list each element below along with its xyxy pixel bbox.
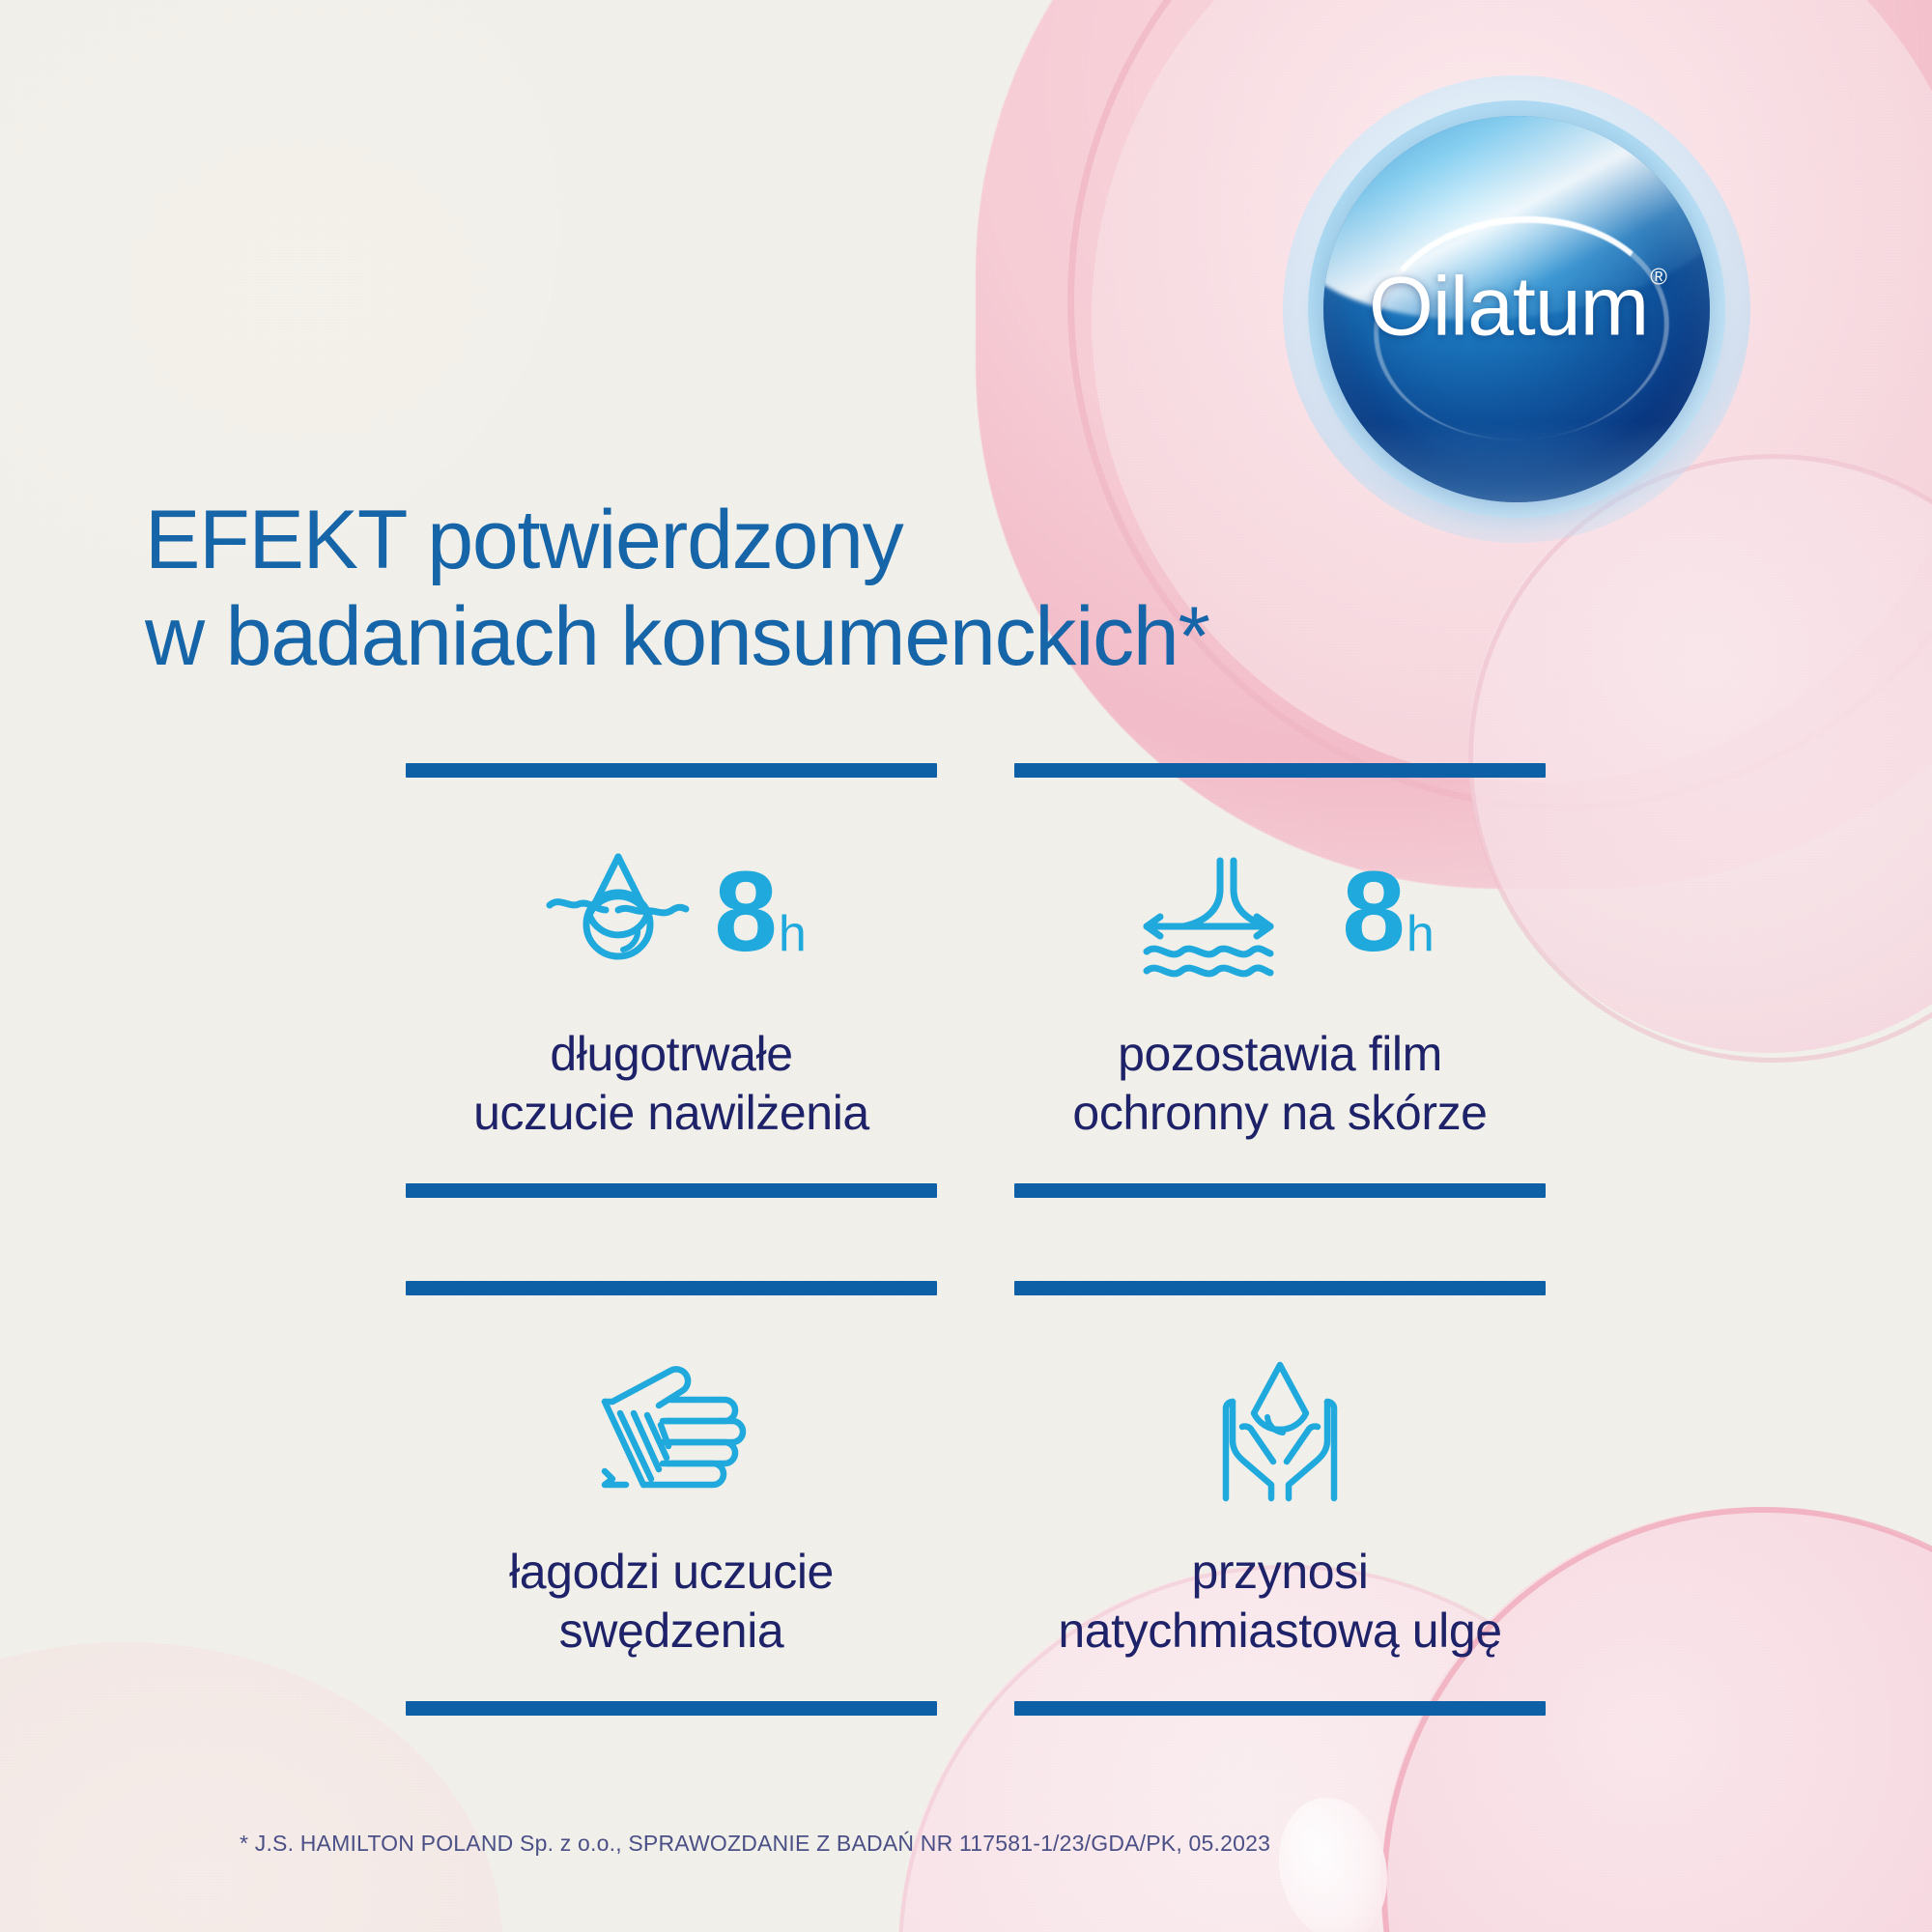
benefit-2-caption: pozostawia film ochronny na skórze bbox=[1072, 1025, 1487, 1143]
divider-rule bbox=[406, 763, 937, 778]
logo-highlight-bottom bbox=[1331, 386, 1702, 502]
benefit-1-duration-unit: h bbox=[779, 909, 807, 959]
background-droplet-highlight bbox=[1266, 1787, 1401, 1932]
benefit-2-duration-unit: h bbox=[1406, 909, 1435, 959]
benefit-3-caption-line-1: łagodzi uczucie bbox=[509, 1545, 834, 1599]
benefits-grid: 8h długotrwałe uczucie nawilżenia bbox=[406, 763, 1546, 1716]
benefit-cell-1-top-rule bbox=[406, 763, 937, 778]
hands-holding-drop-icon bbox=[1179, 1357, 1381, 1502]
background-blob-top-left bbox=[0, 0, 560, 560]
logo-wordmark-text: Oilatum bbox=[1369, 261, 1648, 354]
benefit-4-caption-line-2: natychmiastową ulgę bbox=[1058, 1604, 1501, 1658]
benefits-row-1: 8h długotrwałe uczucie nawilżenia bbox=[406, 778, 1546, 1198]
benefit-1-caption-line-1: długotrwałe bbox=[550, 1027, 792, 1081]
scratching-hand-icon bbox=[570, 1357, 773, 1502]
benefit-cell-2-top-rule bbox=[1014, 763, 1546, 778]
benefit-protective-film: 8h pozostawia film ochronny na skórze bbox=[1014, 778, 1546, 1198]
benefit-2-caption-line-2: ochronny na skórze bbox=[1072, 1086, 1487, 1140]
footnote-study-reference: * J.S. HAMILTON POLAND Sp. z o.o., SPRAW… bbox=[240, 1831, 1270, 1857]
benefit-4-caption: przynosi natychmiastową ulgę bbox=[1058, 1543, 1501, 1661]
benefits-row-2-top-rules bbox=[406, 1281, 1546, 1295]
benefit-3-caption-line-2: swędzenia bbox=[559, 1604, 784, 1658]
benefit-3-caption: łagodzi uczucie swędzenia bbox=[509, 1543, 834, 1661]
logo-sphere: Oilatum® bbox=[1323, 116, 1710, 502]
divider-rule bbox=[406, 1183, 937, 1198]
headline-line-2: w badaniach konsumenckich* bbox=[145, 589, 1517, 686]
benefit-immediate-relief: przynosi natychmiastową ulgę bbox=[1014, 1295, 1546, 1716]
benefit-2-duration-value: 8 bbox=[1342, 855, 1403, 969]
divider-rule bbox=[1014, 763, 1546, 778]
registered-trademark-icon: ® bbox=[1650, 265, 1666, 291]
benefit-2-caption-line-1: pozostawia film bbox=[1118, 1027, 1442, 1081]
logo-wordmark: Oilatum® bbox=[1323, 260, 1710, 355]
barrier-film-waves-icon bbox=[1125, 839, 1328, 984]
benefit-1-duration: 8h bbox=[714, 855, 807, 969]
divider-rule bbox=[1014, 1183, 1546, 1198]
benefit-1-icon-row: 8h bbox=[536, 820, 807, 1004]
divider-rule bbox=[1014, 1281, 1546, 1295]
benefit-4-icon-row bbox=[1179, 1338, 1381, 1521]
water-drop-waves-icon bbox=[536, 839, 700, 984]
divider-rule bbox=[406, 1281, 937, 1295]
divider-rule bbox=[406, 1701, 937, 1716]
benefit-4-caption-line-1: przynosi bbox=[1192, 1545, 1369, 1599]
benefit-cell-3-top-rule bbox=[406, 1281, 937, 1295]
poster-canvas: Oilatum® EFEKT potwierdzony w badaniach … bbox=[0, 0, 1932, 1932]
benefits-row-top-rules bbox=[406, 763, 1546, 778]
benefit-1-duration-value: 8 bbox=[714, 855, 775, 969]
row-spacer bbox=[406, 1198, 1546, 1281]
benefit-long-lasting-hydration: 8h długotrwałe uczucie nawilżenia bbox=[406, 778, 937, 1198]
page-title: EFEKT potwierdzony w badaniach konsumenc… bbox=[145, 493, 1517, 686]
benefit-1-caption-line-2: uczucie nawilżenia bbox=[473, 1086, 869, 1140]
benefit-3-icon-row bbox=[570, 1338, 773, 1521]
oilatum-logo: Oilatum® bbox=[1323, 116, 1710, 502]
headline-line-1: EFEKT potwierdzony bbox=[145, 493, 1517, 589]
benefit-1-caption: długotrwałe uczucie nawilżenia bbox=[473, 1025, 869, 1143]
divider-rule bbox=[1014, 1701, 1546, 1716]
benefits-row-2: łagodzi uczucie swędzenia bbox=[406, 1295, 1546, 1716]
benefit-cell-4-top-rule bbox=[1014, 1281, 1546, 1295]
benefit-2-duration: 8h bbox=[1342, 855, 1435, 969]
benefit-2-icon-row: 8h bbox=[1125, 820, 1435, 1004]
benefit-soothes-itching: łagodzi uczucie swędzenia bbox=[406, 1295, 937, 1716]
